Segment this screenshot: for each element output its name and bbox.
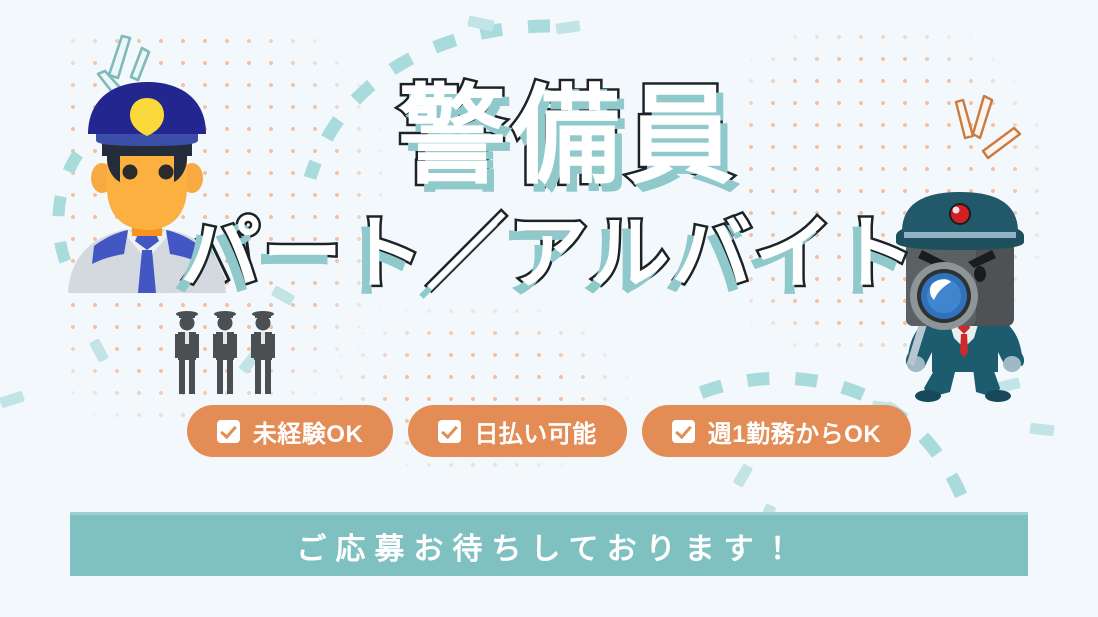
badge-pill-no-experience[interactable]: 未経験OK [187, 405, 394, 457]
badge-pill-label: 未経験OK [253, 414, 364, 449]
checkbox-checked-icon [217, 420, 240, 443]
checkbox-checked-icon [672, 420, 695, 443]
badge-pill-label: 日払い可能 [474, 414, 597, 449]
badge-pill-label: 週1勤務からOK [708, 414, 881, 449]
cta-banner-text: ご応募お待ちしております！ [296, 524, 801, 568]
checkbox-checked-icon [438, 420, 461, 443]
recruitment-banner: 警備員 パート／アルバイト 未経験OK 日払い可能 週1勤務からOK ご応募お待… [0, 0, 1098, 617]
confetti-fleck [89, 338, 109, 363]
page-title-main: 警備員 [0, 82, 1098, 190]
confetti-fleck [555, 20, 580, 34]
badge-pill-daily-pay[interactable]: 日払い可能 [408, 405, 627, 457]
cta-banner[interactable]: ご応募お待ちしております！ [70, 512, 1028, 576]
confetti-fleck [733, 463, 754, 488]
badge-pill-weekly-shift[interactable]: 週1勤務からOK [642, 405, 911, 457]
badge-pill-row: 未経験OK 日払い可能 週1勤務からOK [0, 405, 1098, 457]
page-title-sub: パート／アルバイト [0, 214, 1098, 294]
confetti-fleck [467, 15, 495, 31]
three-guards-silhouette-icon [170, 308, 280, 396]
